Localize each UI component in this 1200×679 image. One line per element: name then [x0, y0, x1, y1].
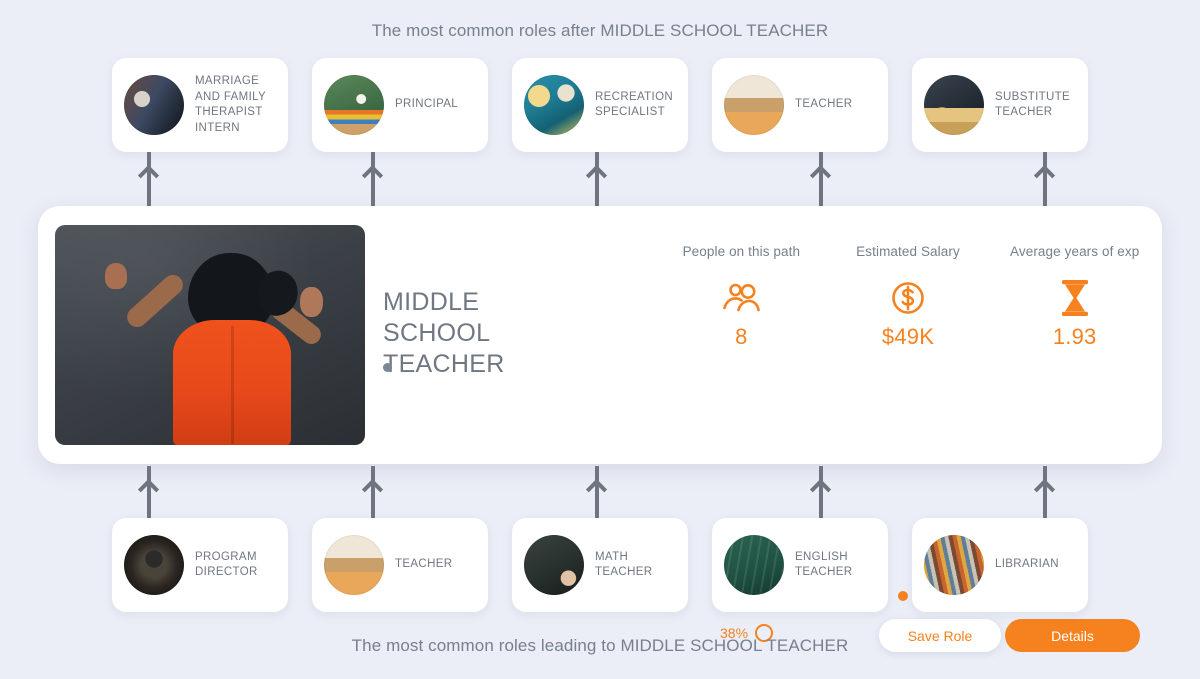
- english-teacher-photo-icon: [724, 535, 784, 595]
- role-card-teacher-prev[interactable]: TEACHER: [312, 518, 488, 612]
- top-caption: The most common roles after MIDDLE SCHOO…: [0, 21, 1200, 41]
- role-card-librarian[interactable]: LIBRARIAN: [912, 518, 1088, 612]
- stats-group: People on this path 8 Estimated Salary: [658, 244, 1158, 350]
- connector-arrow-up-7: [362, 466, 384, 524]
- role-label: LIBRARIAN: [995, 557, 1059, 573]
- connector-arrow-up-3: [586, 152, 608, 210]
- connector-arrow-up-9: [810, 466, 832, 524]
- role-label: PRINCIPAL: [395, 97, 458, 113]
- role-indicator-dot: [383, 363, 392, 372]
- therapist-photo-icon: [124, 75, 184, 135]
- role-card-teacher[interactable]: TEACHER: [712, 58, 888, 152]
- role-label: TEACHER: [795, 97, 852, 113]
- principal-photo-icon: [324, 75, 384, 135]
- connector-arrow-up-10: [1034, 466, 1056, 524]
- role-card-substitute-teacher[interactable]: SUBSTITUTE TEACHER: [912, 58, 1088, 152]
- connector-arrow-up-5: [1034, 152, 1056, 210]
- previous-roles-row: PROGRAM DIRECTOR TEACHER MATH TEACHER EN…: [0, 518, 1200, 612]
- dollar-circle-icon: [825, 276, 992, 320]
- role-label: PROGRAM DIRECTOR: [195, 550, 276, 581]
- stat-value: 8: [658, 324, 825, 350]
- role-card-principal[interactable]: PRINCIPAL: [312, 58, 488, 152]
- stat-label: People on this path: [658, 244, 825, 259]
- role-card-recreation-specialist[interactable]: RECREATION SPECIALIST: [512, 58, 688, 152]
- stat-label: Estimated Salary: [825, 244, 992, 259]
- teacher-photo-icon: [324, 535, 384, 595]
- role-label: ENGLISH TEACHER: [795, 550, 876, 581]
- role-card-program-director[interactable]: PROGRAM DIRECTOR: [112, 518, 288, 612]
- next-roles-row: MARRIAGE AND FAMILY THERAPIST INTERN PRI…: [0, 58, 1200, 152]
- hourglass-icon: [991, 276, 1158, 320]
- stat-label: Average years of exp: [991, 244, 1158, 259]
- stat-value: $49K: [825, 324, 992, 350]
- role-card-english-teacher[interactable]: ENGLISH TEACHER: [712, 518, 888, 612]
- connector-arrow-up-6: [138, 466, 160, 524]
- teacher-photo-icon: [724, 75, 784, 135]
- stat-people-on-this-path: People on this path 8: [658, 244, 825, 350]
- stat-estimated-salary: Estimated Salary $49K: [825, 244, 992, 350]
- stat-average-years-of-exp: Average years of exp 1.93: [991, 244, 1158, 350]
- role-label: MARRIAGE AND FAMILY THERAPIST INTERN: [195, 74, 276, 136]
- role-label: TEACHER: [395, 557, 452, 573]
- connector-arrow-up-8: [586, 466, 608, 524]
- people-icon: [658, 276, 825, 320]
- role-label: SUBSTITUTE TEACHER: [995, 90, 1076, 121]
- current-role-card: MIDDLE SCHOOL TEACHER People on this pat…: [38, 206, 1162, 464]
- role-label: MATH TEACHER: [595, 550, 676, 581]
- bottom-caption: The most common roles leading to MIDDLE …: [0, 636, 1200, 656]
- middle-school-teacher-photo: [55, 225, 365, 445]
- role-card-math-teacher[interactable]: MATH TEACHER: [512, 518, 688, 612]
- math-teacher-photo-icon: [524, 535, 584, 595]
- substitute-teacher-photo-icon: [924, 75, 984, 135]
- role-card-marriage-and-family-therapist-intern[interactable]: MARRIAGE AND FAMILY THERAPIST INTERN: [112, 58, 288, 152]
- page-title: MIDDLE SCHOOL TEACHER: [383, 287, 583, 380]
- connector-arrow-up-2: [362, 152, 384, 210]
- stat-value: 1.93: [991, 324, 1158, 350]
- connector-arrow-up-1: [138, 152, 160, 210]
- recreation-photo-icon: [524, 75, 584, 135]
- role-label: RECREATION SPECIALIST: [595, 90, 676, 121]
- librarian-photo-icon: [924, 535, 984, 595]
- connector-arrow-up-4: [810, 152, 832, 210]
- program-director-photo-icon: [124, 535, 184, 595]
